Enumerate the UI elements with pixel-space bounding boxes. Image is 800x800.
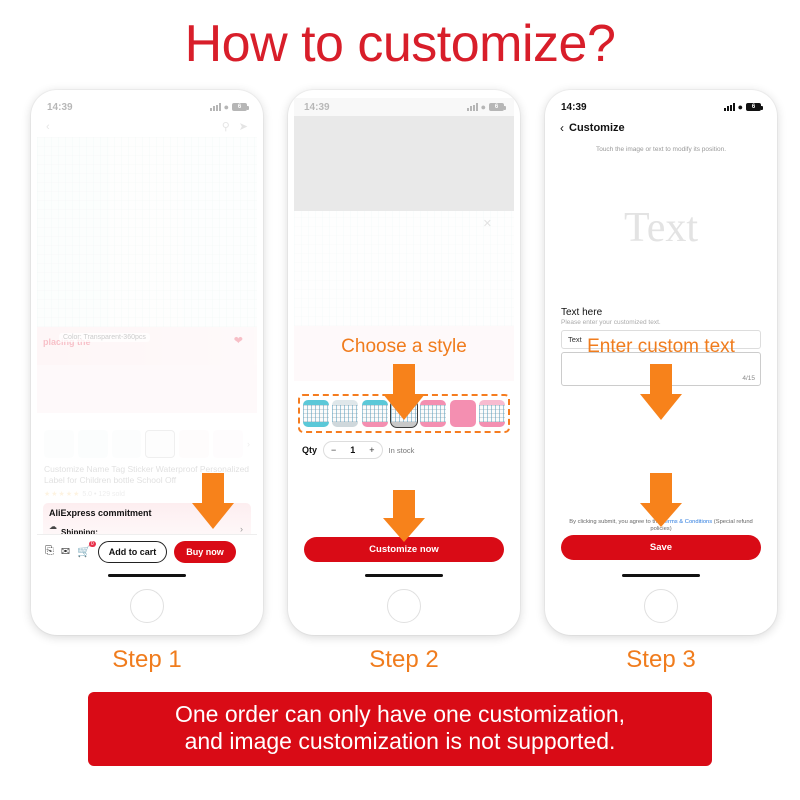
qty-value[interactable]: 1 (343, 442, 362, 458)
back-chevron-icon[interactable]: ‹ (46, 121, 50, 133)
preview-canvas[interactable]: Text (551, 153, 771, 303)
home-button[interactable] (644, 589, 678, 623)
home-button[interactable] (387, 589, 421, 623)
thumbnail-item-selected[interactable] (145, 430, 175, 458)
home-indicator (365, 574, 443, 577)
promo-subline (37, 413, 257, 426)
cart-icon[interactable]: 🛒 0 (77, 545, 91, 558)
style-swatch-7[interactable] (479, 400, 505, 427)
promo-banner[interactable]: placing the Color: Transparent-360pcs ❤ (37, 327, 257, 365)
arrow-down-step1 (190, 473, 236, 531)
search-icon[interactable]: ⚲ (222, 120, 230, 133)
home-indicator (108, 574, 186, 577)
status-clock: 14:39 (47, 102, 73, 113)
bottom-notice-banner: One order can only have one customizatio… (88, 692, 712, 766)
step-label-3: Step 3 (545, 646, 777, 674)
shipping-truck-icon: ☁ (49, 522, 57, 531)
phone1-nav-row[interactable]: ‹ ⚲ ➤ (37, 116, 257, 137)
buy-now-button[interactable]: Buy now (174, 541, 236, 563)
phone3-cta-wrap: Save (551, 535, 771, 560)
share-icon[interactable]: ➤ (239, 120, 248, 133)
add-to-cart-button[interactable]: Add to cart (98, 541, 168, 563)
step-label-1: Step 1 (31, 646, 263, 674)
chevron-right-icon[interactable]: › (240, 524, 243, 534)
form-subheading: Please enter your customized text. (561, 319, 761, 326)
wifi-icon: ● (738, 103, 743, 112)
quantity-row: Qty − 1 + In stock (294, 435, 514, 465)
sheet-product-image[interactable] (294, 211, 514, 326)
infographic-root: How to customize? 14:39 ● 6 ‹ ⚲ ➤ (0, 0, 800, 800)
save-button[interactable]: Save (561, 535, 761, 560)
rating-text: 5.0 • 129 sold (82, 491, 125, 498)
banner-line-1: One order can only have one customizatio… (98, 701, 702, 728)
phone1-status-bar: 14:39 ● 6 (37, 98, 257, 116)
thumbnail-item[interactable] (213, 430, 243, 458)
phone3-status-bar: 14:39 ● 6 (551, 98, 771, 116)
thumbnail-item[interactable] (78, 430, 108, 458)
battery-icon: 6 (489, 103, 504, 111)
rating-stars: ★★★★★ (44, 491, 80, 498)
arrow-down-step3b (638, 473, 684, 531)
store-icon[interactable]: ⎘ (45, 545, 54, 558)
phone2-status-bar: 14:39 ● 6 (294, 98, 514, 116)
phone-mockup-step3: 14:39 ● 6 ‹ Customize Touch the image or… (545, 90, 777, 635)
home-button[interactable] (130, 589, 164, 623)
qty-plus-button[interactable]: + (362, 442, 381, 458)
arrow-down-step3a (638, 364, 684, 420)
character-counter: 4/15 (742, 375, 755, 382)
style-swatch-1[interactable] (303, 400, 329, 427)
back-chevron-icon[interactable]: ‹ (560, 121, 564, 135)
color-variant-chip[interactable]: Color: Transparent-360pcs (59, 333, 150, 342)
step-label-2: Step 2 (288, 646, 520, 674)
customize-header: ‹ Customize (551, 116, 771, 140)
canvas-text-preview[interactable]: Text (624, 204, 698, 252)
cart-badge: 0 (89, 541, 96, 547)
battery-icon: 6 (232, 103, 247, 111)
page-title: How to customize? (0, 14, 800, 74)
promo-body (37, 365, 257, 413)
signal-bars-icon (724, 103, 735, 111)
hint-text: Touch the image or text to modify its po… (551, 140, 771, 153)
phone-mockup-step1: 14:39 ● 6 ‹ ⚲ ➤ placing the Color: Trans… (31, 90, 263, 635)
qty-minus-button[interactable]: − (324, 442, 343, 458)
phone-mockup-step2: 14:39 ● 6 ✕ (288, 90, 520, 635)
form-heading: Text here (561, 307, 761, 318)
quantity-stepper[interactable]: − 1 + (323, 441, 383, 459)
thumbnail-strip[interactable]: › (37, 426, 257, 462)
signal-bars-icon (210, 103, 221, 111)
arrow-down-step2 (381, 364, 427, 420)
dimmed-overlay (294, 116, 514, 211)
page-heading: Customize (569, 122, 625, 134)
status-clock: 14:39 (304, 102, 330, 113)
status-clock: 14:39 (561, 102, 587, 113)
chevron-right-icon[interactable]: › (247, 439, 250, 449)
banner-line-2: and image customization is not supported… (98, 728, 702, 755)
style-swatch-2[interactable] (332, 400, 358, 427)
wifi-icon: ● (481, 103, 486, 112)
phone1-action-bar: ⎘ ✉ 🛒 0 Add to cart Buy now (37, 534, 257, 568)
qty-label: Qty (302, 445, 317, 455)
stock-status: In stock (389, 446, 415, 455)
signal-bars-icon (467, 103, 478, 111)
style-swatch-6[interactable] (450, 400, 476, 427)
product-image[interactable] (37, 137, 257, 327)
callout-enter-custom-text: Enter custom text (545, 336, 777, 358)
arrow-down-step2b (381, 490, 427, 548)
thumbnail-item[interactable] (112, 430, 142, 458)
wifi-icon: ● (224, 103, 229, 112)
battery-icon: 6 (746, 103, 761, 111)
heart-icon[interactable]: ❤ (234, 334, 243, 347)
home-indicator (622, 574, 700, 577)
chat-icon[interactable]: ✉ (61, 545, 70, 558)
thumbnail-item[interactable] (44, 430, 74, 458)
callout-choose-a-style: Choose a style (288, 336, 520, 358)
thumbnail-item[interactable] (179, 430, 209, 458)
